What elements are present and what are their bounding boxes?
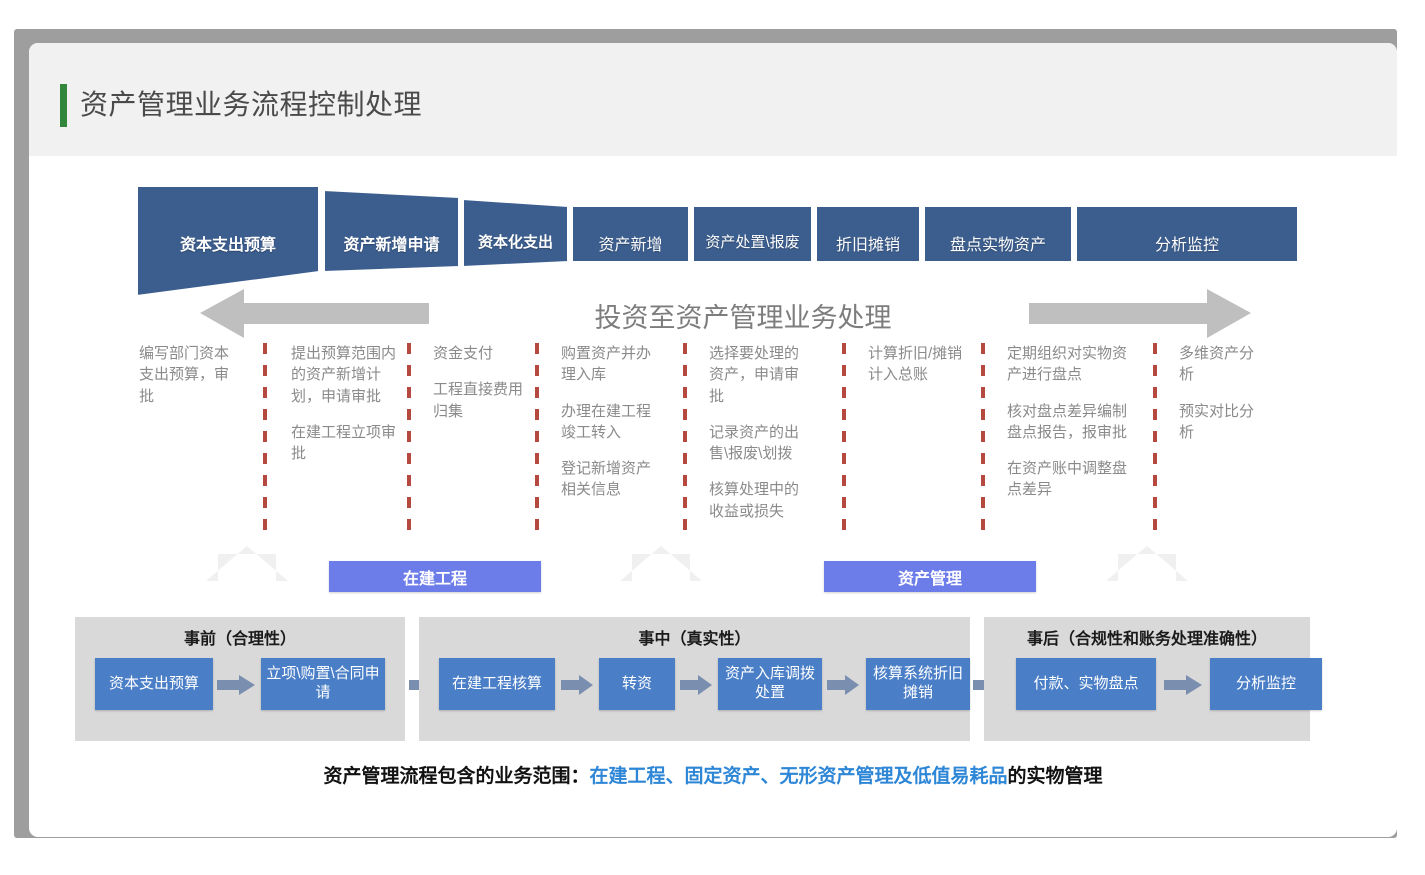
caption-suffix: 的实物管理 xyxy=(1008,766,1103,787)
right-arrow-icon xyxy=(1029,289,1251,338)
tag-label: 资产管理 xyxy=(898,565,962,589)
column-divider-7 xyxy=(1153,343,1157,541)
detail-column-3: 资金支付 工程直接费用归集 xyxy=(433,343,529,437)
panel-during-stage: 事中（真实性） 在建工程核算 转资 资产入库调拨处置 核算系统折旧摊销 xyxy=(419,617,970,741)
flow-arrow-icon xyxy=(827,675,861,695)
funnel-label-1: 资本支出预算 xyxy=(137,231,319,255)
panel-box-asset-inbound-allocation[interactable]: 资产入库调拨处置 xyxy=(718,658,822,710)
panel-title: 事前（合理性） xyxy=(75,625,405,649)
panel-box-label: 核算系统折旧摊销 xyxy=(866,665,970,703)
flow-arrow-icon xyxy=(1164,675,1204,695)
panel-box-label: 付款、实物盘点 xyxy=(1033,675,1138,694)
column-divider-4 xyxy=(683,343,687,541)
slide-canvas: 资产管理业务流程控制处理 xyxy=(0,0,1425,875)
detail-item: 计算折旧/摊销计入总账 xyxy=(868,343,972,386)
panel-box-project-purchase-contract[interactable]: 立项\购置\合同申请 xyxy=(261,658,385,710)
funnel-label-8: 分析监控 xyxy=(1076,231,1298,255)
detail-item: 在资产账中调整盘点差异 xyxy=(1007,458,1135,501)
panel-box-depreciation-amortization[interactable]: 核算系统折旧摊销 xyxy=(866,658,970,710)
detail-column-2: 提出预算范围内的资产新增计划，申请审批 在建工程立项审批 xyxy=(291,343,397,479)
detail-item: 核对盘点差异编制盘点报告，报审批 xyxy=(1007,401,1135,444)
panel-box-label: 转资 xyxy=(622,675,652,694)
funnel-label-3: 资本化支出 xyxy=(463,231,568,252)
column-divider-3 xyxy=(535,343,539,541)
detail-column-4: 购置资产并办理入库 办理在建工程竣工转入 登记新增资产相关信息 xyxy=(561,343,665,516)
slide-card: 资产管理业务流程控制处理 xyxy=(29,43,1397,837)
flow-arrow-icon xyxy=(680,675,714,695)
column-divider-6 xyxy=(981,343,985,541)
panel-box-label: 在建工程核算 xyxy=(452,675,542,694)
tag-label: 在建工程 xyxy=(403,565,467,589)
detail-column-5: 选择要处理的资产，申请审批 记录资产的出售\报废\划拨 核算处理中的收益或损失 xyxy=(709,343,813,537)
detail-item: 定期组织对实物资产进行盘点 xyxy=(1007,343,1135,386)
detail-item: 编写部门资本支出预算，审批 xyxy=(139,343,231,407)
panel-box-label: 资产入库调拨处置 xyxy=(718,665,822,703)
detail-item: 预实对比分析 xyxy=(1179,401,1265,444)
panel-post-stage: 事后（合规性和账务处理准确性） 付款、实物盘点 分析监控 xyxy=(984,617,1310,741)
flow-direction-title: 投资至资产管理业务处理 xyxy=(553,296,933,335)
panel-box-label: 资本支出预算 xyxy=(109,675,199,694)
detail-item: 多维资产分析 xyxy=(1179,343,1265,386)
detail-item: 登记新增资产相关信息 xyxy=(561,458,665,501)
panel-box-analysis-monitoring[interactable]: 分析监控 xyxy=(1210,658,1322,710)
detail-columns: 编写部门资本支出预算，审批 提出预算范围内的资产新增计划，申请审批 在建工程立项… xyxy=(29,343,1397,553)
detail-item: 购置资产并办理入库 xyxy=(561,343,665,386)
panel-box-transfer[interactable]: 转资 xyxy=(599,658,675,710)
tag-construction-in-progress[interactable]: 在建工程 xyxy=(329,561,541,592)
panel-pre-stage: 事前（合理性） 资本支出预算 立项\购置\合同申请 xyxy=(75,617,405,741)
detail-column-8: 多维资产分析 预实对比分析 xyxy=(1179,343,1265,458)
flow-arrow-icon xyxy=(561,675,595,695)
panel-title: 事中（真实性） xyxy=(419,625,970,649)
panel-box-label: 立项\购置\合同申请 xyxy=(261,665,385,703)
funnel-label-7: 盘点实物资产 xyxy=(924,231,1072,255)
detail-item: 记录资产的出售\报废\划拨 xyxy=(709,422,813,465)
funnel-label-6: 折旧摊销 xyxy=(816,231,920,255)
panel-title: 事后（合规性和账务处理准确性） xyxy=(984,625,1310,649)
detail-item: 选择要处理的资产，申请审批 xyxy=(709,343,813,407)
tag-asset-management[interactable]: 资产管理 xyxy=(824,561,1036,592)
detail-column-7: 定期组织对实物资产进行盘点 核对盘点差异编制盘点报告，报审批 在资产账中调整盘点… xyxy=(1007,343,1135,516)
caption-highlight: 在建工程、固定资产、无形资产管理及低值易耗品 xyxy=(589,766,1007,787)
column-divider-5 xyxy=(842,343,846,541)
footer-caption: 资产管理流程包含的业务范围：在建工程、固定资产、无形资产管理及低值易耗品的实物管… xyxy=(29,761,1397,788)
detail-item: 在建工程立项审批 xyxy=(291,422,397,465)
page-title: 资产管理业务流程控制处理 xyxy=(80,83,422,123)
left-arrow-icon xyxy=(200,289,429,338)
detail-column-6: 计算折旧/摊销计入总账 xyxy=(868,343,972,401)
panel-box-capital-budget[interactable]: 资本支出预算 xyxy=(95,658,213,710)
panel-box-cip-accounting[interactable]: 在建工程核算 xyxy=(439,658,555,710)
detail-item: 提出预算范围内的资产新增计划，申请审批 xyxy=(291,343,397,407)
detail-item: 工程直接费用归集 xyxy=(433,379,529,422)
column-divider-1 xyxy=(263,343,267,541)
caption-prefix: 资产管理流程包含的业务范围： xyxy=(323,766,589,787)
funnel-label-4: 资产新增 xyxy=(572,231,689,255)
funnel-label-2: 资产新增申请 xyxy=(324,231,459,255)
detail-column-1: 编写部门资本支出预算，审批 xyxy=(139,343,231,422)
column-divider-2 xyxy=(407,343,411,541)
funnel-label-5: 资产处置\报废 xyxy=(693,231,812,252)
panel-box-label: 分析监控 xyxy=(1236,675,1296,694)
flow-arrow-icon xyxy=(217,675,257,695)
panel-box-payment-inventory[interactable]: 付款、实物盘点 xyxy=(1016,658,1156,710)
title-accent-bar xyxy=(60,84,67,127)
detail-item: 办理在建工程竣工转入 xyxy=(561,401,665,444)
detail-item: 资金支付 xyxy=(433,343,529,364)
detail-item: 核算处理中的收益或损失 xyxy=(709,479,813,522)
